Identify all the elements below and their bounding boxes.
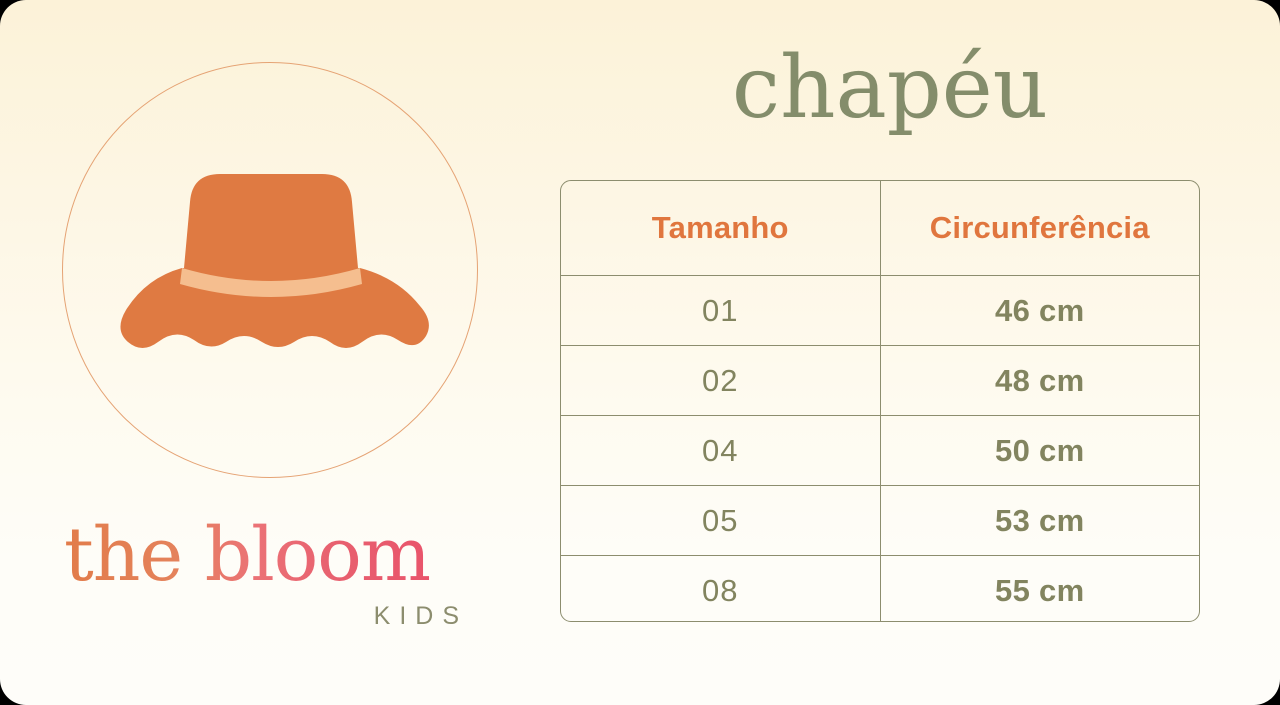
table-row: 02 48 cm	[561, 346, 1199, 416]
column-header-size: Tamanho	[561, 181, 880, 276]
size-chart-card: the bloom KIDS chapéu Tamanho Circunferê…	[0, 0, 1280, 705]
brand-wordmark: the bloom	[62, 512, 480, 596]
brand-kids-label: KIDS	[374, 604, 468, 629]
cell-size: 05	[561, 486, 880, 556]
size-table: Tamanho Circunferência 01 46 cm 02 48 cm…	[560, 180, 1200, 622]
size-table-panel: chapéu Tamanho Circunferência 01 46 cm 0…	[540, 0, 1280, 705]
bucket-hat-icon	[106, 160, 436, 365]
table-row: 08 55 cm	[561, 556, 1199, 623]
page-title: chapéu	[540, 42, 1240, 135]
brand-logo: the bloom KIDS	[62, 512, 480, 632]
cell-size: 08	[561, 556, 880, 623]
cell-size: 01	[561, 276, 880, 346]
table-row: 04 50 cm	[561, 416, 1199, 486]
cell-circumference: 50 cm	[880, 416, 1199, 486]
cell-size: 04	[561, 416, 880, 486]
cell-circumference: 46 cm	[880, 276, 1199, 346]
cell-size: 02	[561, 346, 880, 416]
table-row: 01 46 cm	[561, 276, 1199, 346]
table-header-row: Tamanho Circunferência	[561, 181, 1199, 276]
cell-circumference: 53 cm	[880, 486, 1199, 556]
svg-text:the bloom: the bloom	[64, 512, 430, 596]
product-illustration-panel: the bloom KIDS	[0, 0, 540, 705]
table-row: 05 53 cm	[561, 486, 1199, 556]
cell-circumference: 48 cm	[880, 346, 1199, 416]
cell-circumference: 55 cm	[880, 556, 1199, 623]
column-header-circumference: Circunferência	[880, 181, 1199, 276]
